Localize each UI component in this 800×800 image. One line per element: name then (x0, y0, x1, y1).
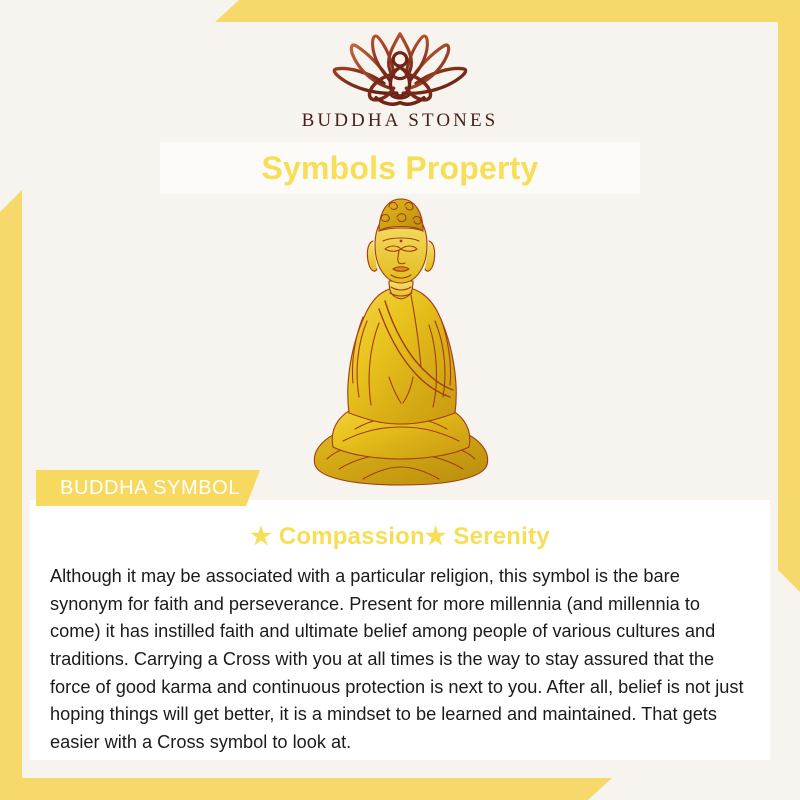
brand-name: BUDDHA STONES (302, 110, 499, 132)
frame-bar-top (215, 0, 800, 22)
content-panel: ★ Compassion★ Serenity Although it may b… (30, 500, 770, 760)
page-title: Symbols Property (261, 150, 538, 187)
traits-line: ★ Compassion★ Serenity (36, 522, 764, 551)
brand-header: BUDDHA STONES (22, 22, 778, 142)
buddha-symbol-ribbon: BUDDHA SYMBOL (36, 470, 260, 506)
poster-canvas: BUDDHA STONES Symbols Property (0, 0, 800, 800)
frame-bar-right (778, 0, 800, 592)
title-banner: Symbols Property (160, 142, 640, 194)
lotus-meditation-figure-icon (320, 30, 480, 108)
frame-bar-left (0, 190, 22, 800)
seated-golden-buddha-statue-icon (293, 197, 508, 497)
hero-image-container (22, 194, 778, 500)
frame-bar-bottom (0, 778, 612, 800)
ribbon-label: BUDDHA SYMBOL (60, 477, 240, 500)
body-paragraph: Although it may be associated with a par… (36, 563, 764, 757)
poster-card: BUDDHA STONES Symbols Property (22, 22, 778, 778)
